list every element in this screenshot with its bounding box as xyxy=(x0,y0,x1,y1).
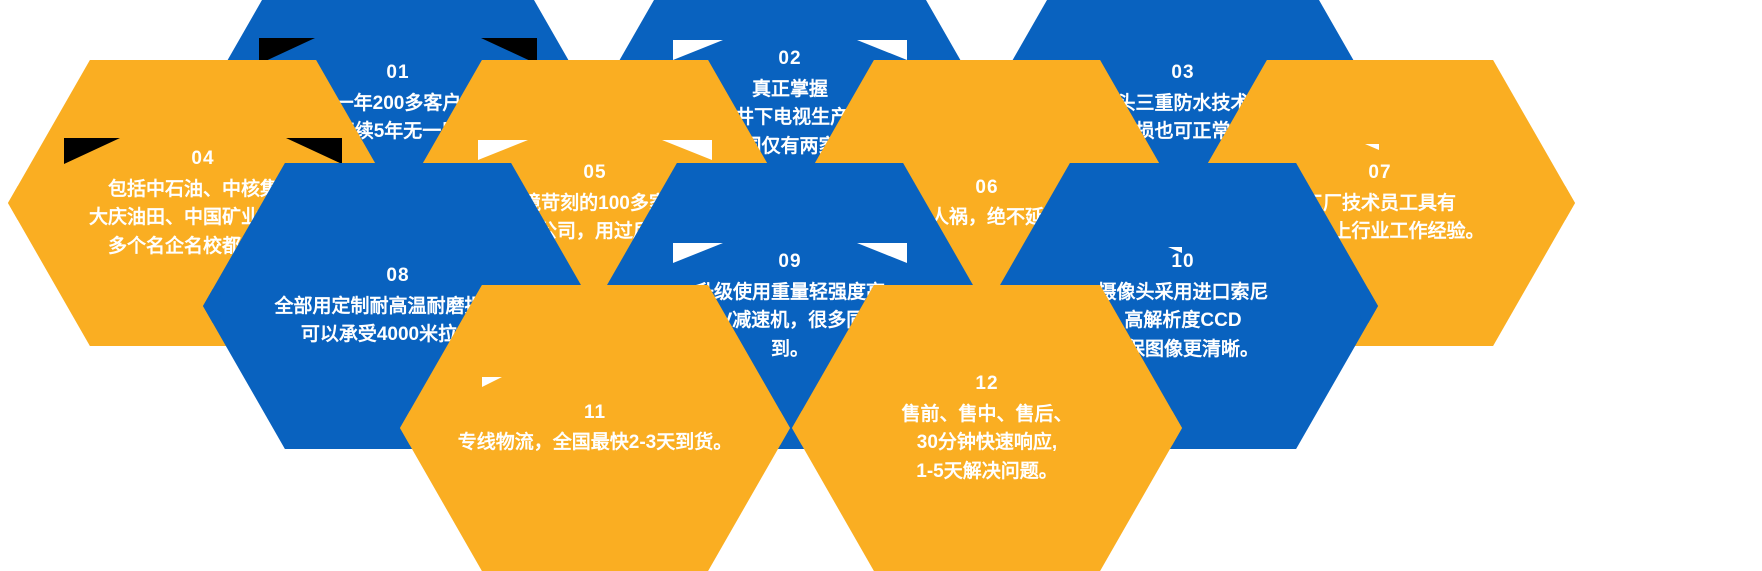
decorative-notch-right-icon xyxy=(662,140,712,160)
decorative-notch-right-icon xyxy=(857,40,907,60)
hex-description: 专线物流，全国最快2-3天到货。 xyxy=(458,429,732,458)
hex-number: 04 xyxy=(191,145,214,174)
hexagon-infographic: 01一年200多客户 外贸内贸连续5年无一质量投诉。02真正掌握 5000米井下… xyxy=(0,0,1762,571)
hex-number: 02 xyxy=(778,45,801,74)
decorative-notch-left-icon xyxy=(673,243,723,263)
hex-number: 08 xyxy=(386,262,409,291)
hex-number: 01 xyxy=(386,59,409,88)
decorative-triangle-left-icon xyxy=(64,138,120,164)
hex-number: 05 xyxy=(583,159,606,188)
hex-number: 09 xyxy=(778,248,801,277)
hex-number: 07 xyxy=(1368,159,1391,188)
decorative-triangle-right-icon xyxy=(286,138,342,164)
decorative-notch-right-icon xyxy=(857,243,907,263)
hex-cell-11[interactable]: 11专线物流，全国最快2-3天到货。 xyxy=(400,285,790,571)
hex-number: 12 xyxy=(975,370,998,399)
hex-left-nub xyxy=(4,186,26,220)
hex-number: 10 xyxy=(1171,248,1194,277)
decorative-notch-icon xyxy=(1365,144,1379,150)
hex-right-nub xyxy=(1557,186,1579,220)
decorative-notch-icon xyxy=(482,377,502,387)
hex-cell-12[interactable]: 12售前、售中、售后、 30分钟快速响应, 1-5天解决问题。 xyxy=(792,285,1182,571)
decorative-notch-left-icon xyxy=(478,140,528,160)
hex-description: 售前、售中、售后、 30分钟快速响应, 1-5天解决问题。 xyxy=(901,401,1072,487)
hex-number: 06 xyxy=(975,174,998,203)
hex-number: 03 xyxy=(1171,59,1194,88)
decorative-notch-left-icon xyxy=(673,40,723,60)
hex-number: 11 xyxy=(584,399,606,428)
